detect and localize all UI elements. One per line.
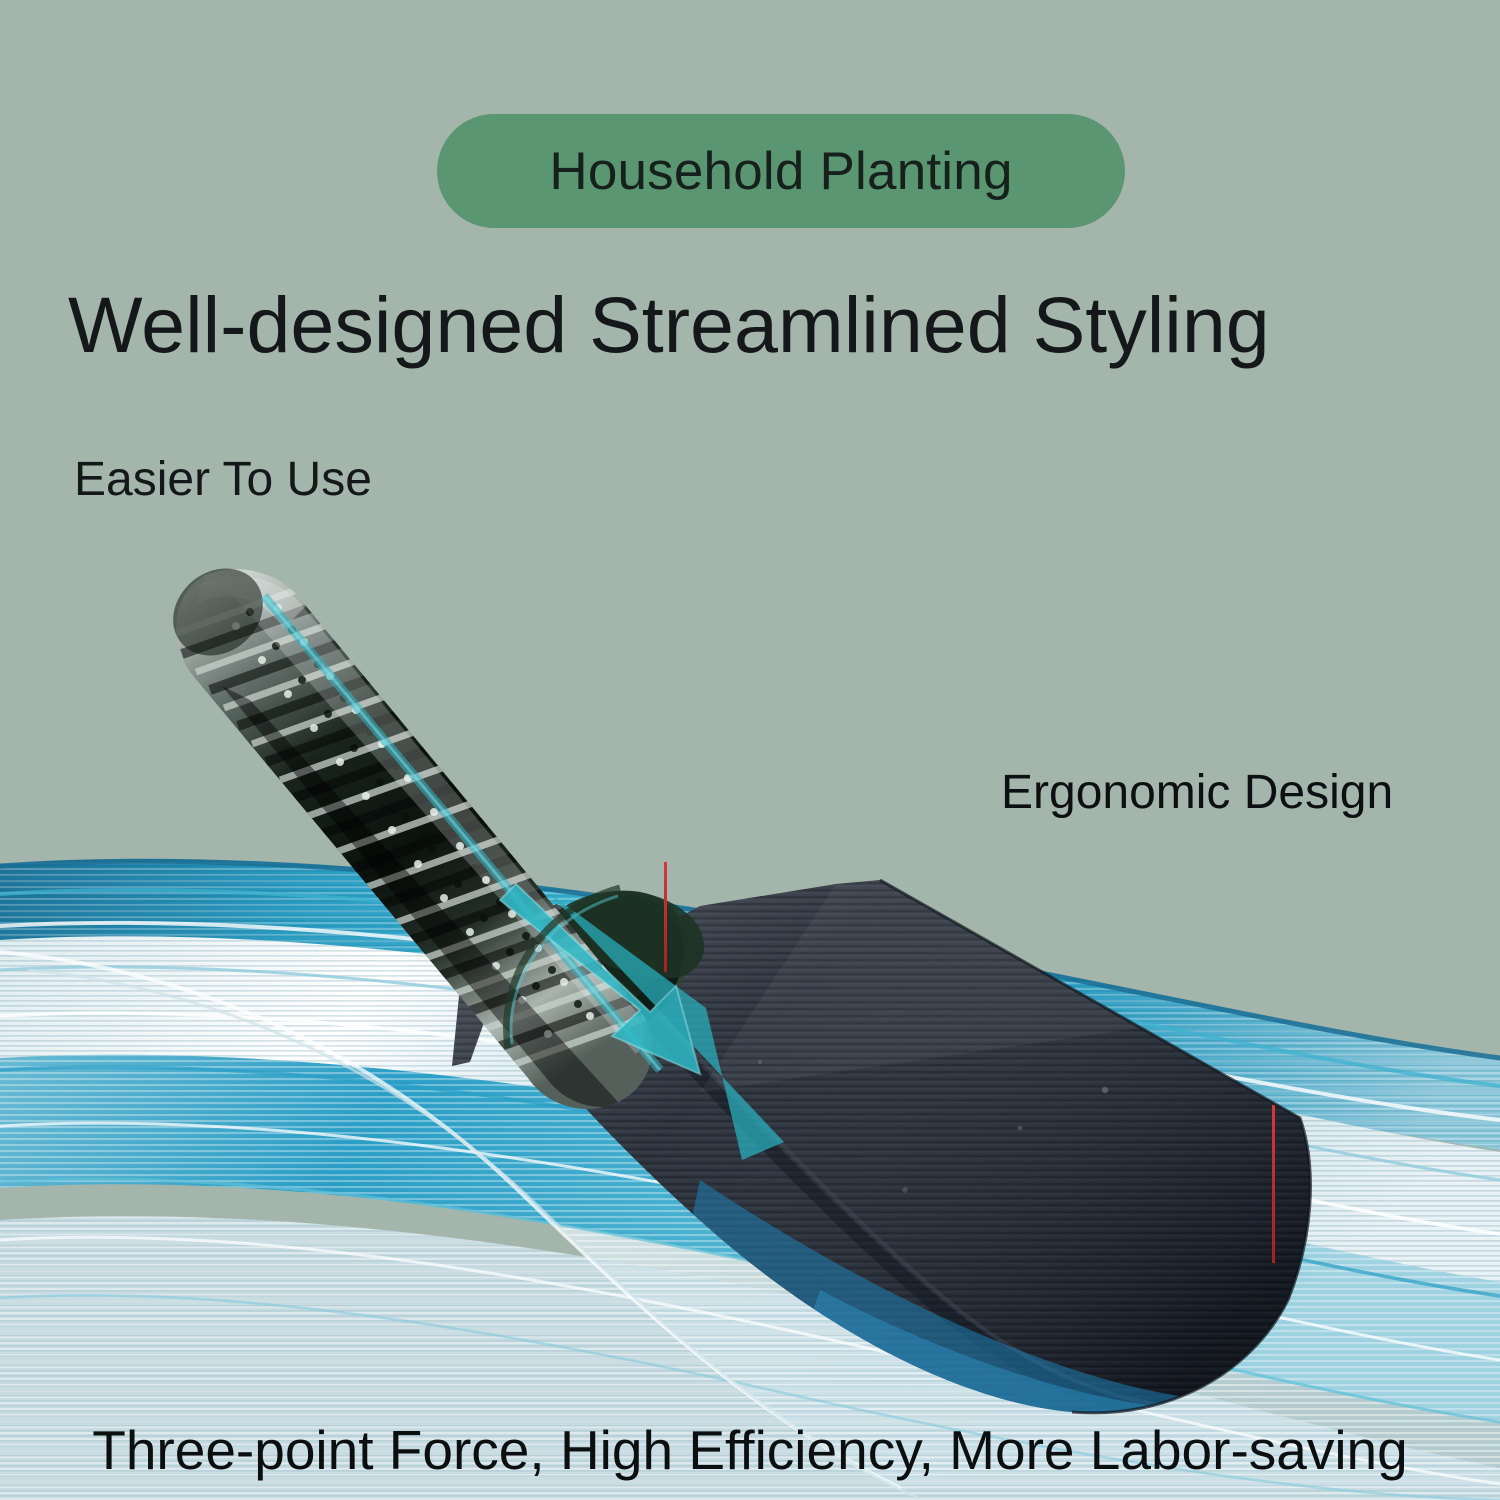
feature-label-easier-to-use: Easier To Use	[74, 452, 372, 507]
page-title: Well-designed Streamlined Styling	[68, 283, 1448, 367]
banner-canvas: Household Planting Well-designed Streaml…	[0, 0, 1500, 1500]
callout-line-right	[1272, 1105, 1275, 1263]
footer-tagline: Three-point Force, High Efficiency, More…	[0, 1418, 1500, 1482]
callout-line-left	[664, 862, 667, 972]
streamline-wave-svg	[0, 820, 1500, 1500]
category-badge[interactable]: Household Planting	[437, 114, 1125, 228]
handle-end-cap	[156, 551, 306, 674]
feature-label-ergonomic-design: Ergonomic Design	[1001, 765, 1393, 820]
category-badge-label: Household Planting	[549, 145, 1012, 198]
streamline-wave-graphic	[0, 820, 1500, 1500]
